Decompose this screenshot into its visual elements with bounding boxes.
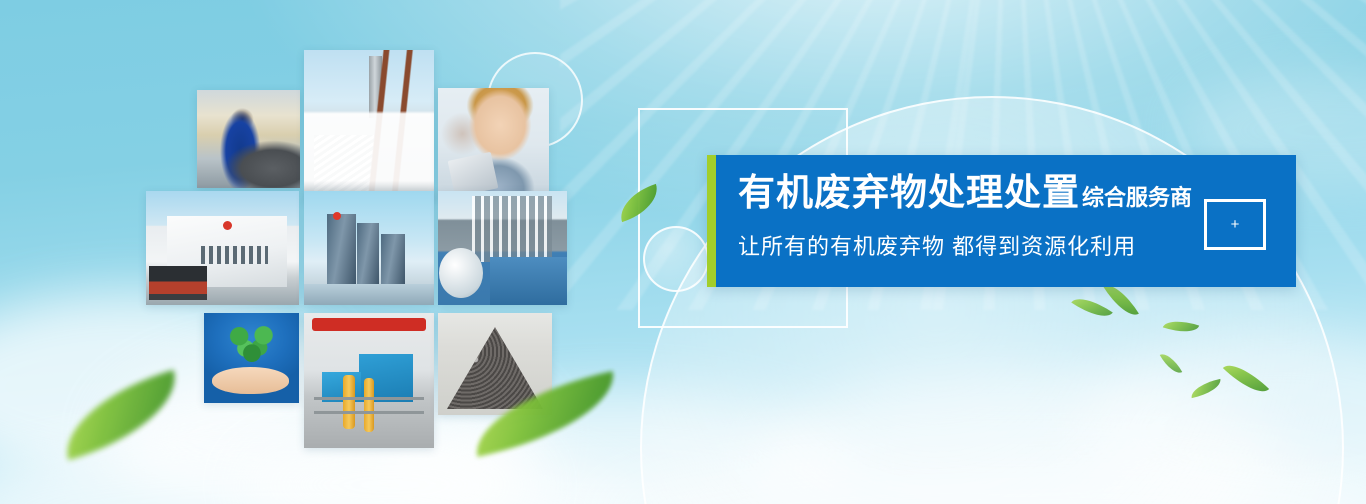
incineration-plant-image xyxy=(304,50,434,202)
accent-bar xyxy=(707,155,716,287)
smokestack-shape xyxy=(369,56,382,118)
window-row-shape xyxy=(201,246,268,264)
office-towers-image xyxy=(304,191,434,305)
factory-workshop-truck-image xyxy=(146,191,299,305)
process-equipment-pipes-image xyxy=(438,191,567,305)
tablet-shape xyxy=(448,151,499,196)
treatment-machinery-image xyxy=(304,313,434,448)
photo-tile-process-equipment-pipes[interactable] xyxy=(438,191,567,305)
green-heart-in-hand-image xyxy=(204,313,299,403)
photo-tile-green-heart-in-hand[interactable] xyxy=(204,313,299,403)
worker-bagging-waste-image xyxy=(197,90,300,188)
tower-shape xyxy=(381,234,406,284)
tower-shape xyxy=(357,223,379,285)
photo-tile-office-towers[interactable] xyxy=(304,191,434,305)
leaf-heart-shape xyxy=(225,324,278,371)
photo-tile-incineration-plant[interactable] xyxy=(304,50,434,202)
logo-dot-shape xyxy=(333,212,341,220)
storage-tank-shape xyxy=(439,248,483,298)
staircase-shape xyxy=(314,135,374,196)
yellow-pipe-shape xyxy=(343,375,355,429)
expand-plus-button[interactable]: + xyxy=(1204,199,1266,250)
hero-banner: 有机废弃物处理处置综合服务商 让所有的有机废弃物 都得到资源化利用 + xyxy=(0,0,1366,504)
waterfront-shape xyxy=(304,284,434,305)
sludge-heap-shape xyxy=(447,327,543,409)
photo-tile-processed-sludge-pile[interactable] xyxy=(438,313,552,415)
photo-tile-treatment-machinery[interactable] xyxy=(304,313,434,448)
promo-content: 有机废弃物处理处置综合服务商 让所有的有机废弃物 都得到资源化利用 + xyxy=(716,155,1296,287)
photo-tile-factory-workshop-truck[interactable] xyxy=(146,191,299,305)
promo-title-sub: 综合服务商 xyxy=(1082,185,1192,210)
photo-tile-businesswoman-thumbs-up[interactable] xyxy=(438,88,549,197)
truck-shape xyxy=(149,266,207,300)
handrail-shape xyxy=(314,397,423,400)
crane-beam-shape xyxy=(312,318,426,330)
open-palm-shape xyxy=(212,367,290,394)
yellow-pipe-shape xyxy=(364,378,374,432)
logo-dot-shape xyxy=(223,221,232,230)
steel-structure-shape xyxy=(472,196,552,262)
businesswoman-thumbs-up-image xyxy=(438,88,549,197)
promo-title-main: 有机废弃物处理处置 xyxy=(738,172,1080,213)
blue-shed-shape xyxy=(490,257,567,305)
promo-banner: 有机废弃物处理处置综合服务商 让所有的有机废弃物 都得到资源化利用 + xyxy=(707,155,1296,287)
tower-shape xyxy=(327,214,356,285)
processed-sludge-pile-image xyxy=(438,313,552,415)
photo-tile-worker-bagging-waste[interactable] xyxy=(197,90,300,188)
